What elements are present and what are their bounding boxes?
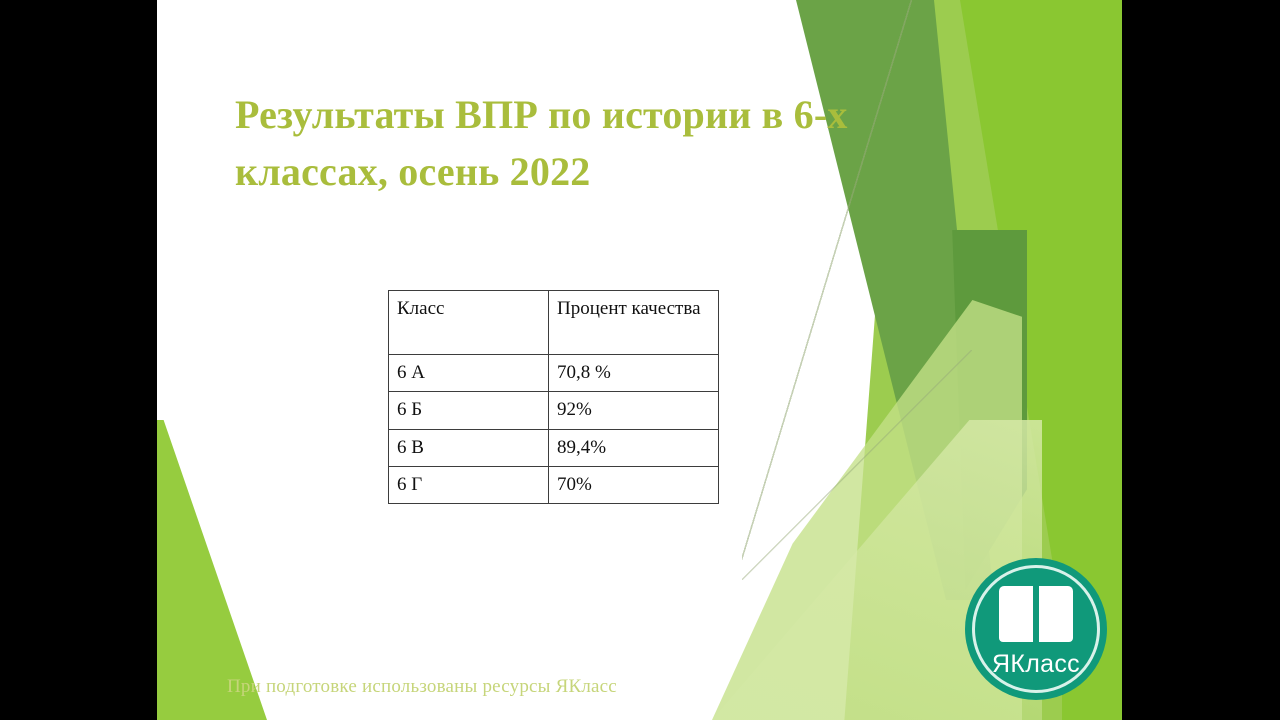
cell-quality: 89,4%: [549, 429, 719, 466]
table-row: 6 Г 70%: [389, 466, 719, 503]
yaklass-logo: ЯКласс: [965, 558, 1107, 700]
cell-class: 6 Б: [389, 392, 549, 429]
decoration-left-green-triangle: [157, 420, 267, 720]
open-book-icon: [999, 586, 1073, 642]
footer-credit-text: При подготовке использованы ресурсы ЯКла…: [227, 676, 617, 698]
column-header-quality: Процент качества: [549, 291, 719, 355]
results-table-container: Класс Процент качества 6 А 70,8 % 6 Б 92…: [388, 290, 719, 504]
decoration-hairline-seam-lower: [742, 350, 972, 580]
decoration-dark-olive-flare: [807, 230, 1027, 590]
book-page-left: [999, 586, 1033, 642]
cell-quality: 92%: [549, 392, 719, 429]
cell-class: 6 А: [389, 355, 549, 392]
decoration-hairline-seam-upper: [742, 0, 912, 560]
presentation-slide: Результаты ВПР по истории в 6-х классах,…: [157, 0, 1122, 720]
table-header-row: Класс Процент качества: [389, 291, 719, 355]
results-table: Класс Процент качества 6 А 70,8 % 6 Б 92…: [388, 290, 719, 504]
book-page-right: [1039, 586, 1073, 642]
table-row: 6 А 70,8 %: [389, 355, 719, 392]
cell-quality: 70%: [549, 466, 719, 503]
table-row: 6 Б 92%: [389, 392, 719, 429]
table-row: 6 В 89,4%: [389, 429, 719, 466]
cell-quality: 70,8 %: [549, 355, 719, 392]
cell-class: 6 Г: [389, 466, 549, 503]
slide-title: Результаты ВПР по истории в 6-х классах,…: [235, 87, 875, 201]
logo-wordmark: ЯКласс: [965, 650, 1107, 679]
cell-class: 6 В: [389, 429, 549, 466]
screenshot-stage: Результаты ВПР по истории в 6-х классах,…: [0, 0, 1280, 720]
book-spine: [1033, 590, 1039, 642]
column-header-class: Класс: [389, 291, 549, 355]
